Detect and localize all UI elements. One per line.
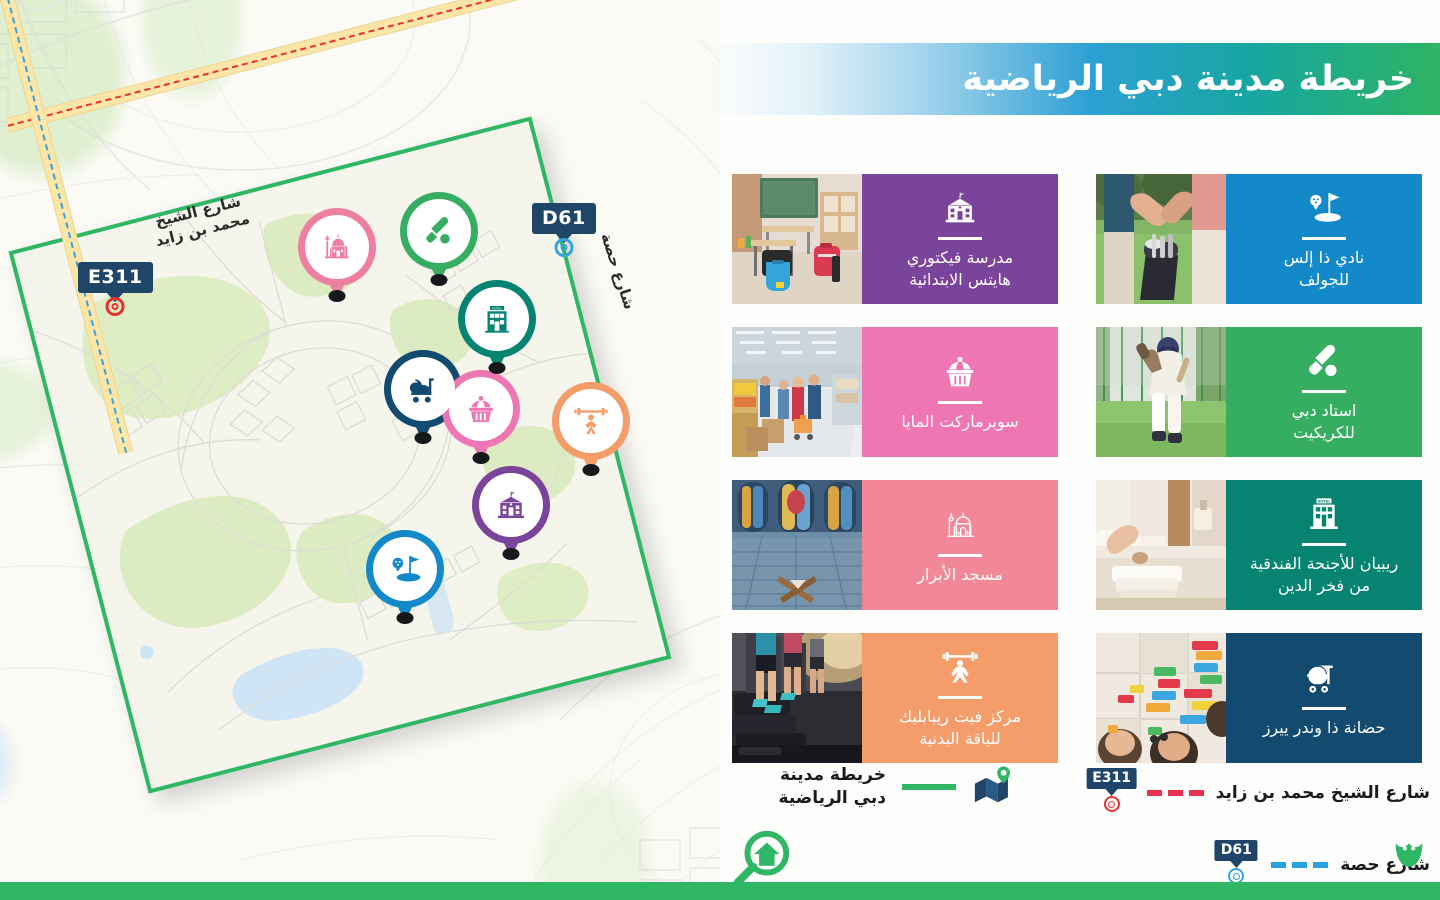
stroller-icon: [391, 357, 455, 421]
cricket-pin[interactable]: [400, 192, 478, 270]
card-label: مسجد الأبرار: [917, 564, 1003, 586]
svg-text:HOTEL: HOTEL: [1318, 500, 1332, 504]
card-divider: [1302, 707, 1346, 710]
leaf-mark-icon: [1392, 840, 1426, 874]
card-label: مركز فيت ريبابليك للياقة البدنية: [899, 706, 1021, 749]
card-divider: [938, 696, 982, 699]
legend-row-e311: شارع الشيخ محمد بن زايد E311: [1089, 768, 1430, 818]
right-panel: خريطة مدينة دبي الرياضية مدرسة فيكتوري ه…: [700, 0, 1440, 900]
card-divider: [1302, 237, 1346, 240]
basket-icon: [940, 351, 980, 393]
cricket-card[interactable]: استاد دبي للكريكيت: [1096, 327, 1422, 457]
legend-dash-e311: [1147, 790, 1204, 796]
hotel-card[interactable]: HOTEL ريبيان للأجنحة الفندقية من فخر الد…: [1096, 480, 1422, 610]
d61-node-marker: [554, 238, 573, 257]
legend-row-boundary: خريطة مدينة دبي الرياضية: [718, 762, 1018, 812]
legend-dash-d61: [1271, 862, 1328, 868]
weightlifter-icon: [559, 389, 623, 453]
page-title: خريطة مدينة دبي الرياضية: [962, 59, 1440, 99]
card-label: استاد دبي للكريكيت: [1292, 400, 1357, 443]
gym-treadmills-photo: [732, 633, 862, 763]
legend-chip-e311: E311: [1086, 768, 1137, 789]
mosque-interior-photo: [732, 480, 862, 610]
hotel-icon: HOTEL: [465, 287, 529, 351]
card-divider: [938, 237, 982, 240]
card-divider: [938, 554, 982, 557]
school-icon: [479, 473, 543, 537]
infographic-root: شارع الشيخ محمد بن زايد شارع حصة E311 D6…: [0, 0, 1440, 900]
boundary-line-swatch: [902, 784, 956, 790]
legend: شارع الشيخ محمد بن زايد E311 شارع حصة D6…: [718, 762, 1430, 872]
school-icon: [940, 187, 980, 229]
header-band: خريطة مدينة دبي الرياضية: [712, 43, 1440, 115]
classroom-photo: [732, 174, 862, 304]
card-divider: [1302, 543, 1346, 546]
legend-roads: شارع الشيخ محمد بن زايد E311 شارع حصة D6…: [1089, 768, 1430, 900]
map-pane[interactable]: شارع الشيخ محمد بن زايد شارع حصة E311 D6…: [0, 0, 720, 900]
e311-chip-label: E311: [78, 262, 153, 293]
golf-handshake-photo: [1096, 174, 1226, 304]
cricket-bat-icon: [407, 199, 471, 263]
hotel-pin[interactable]: HOTEL: [458, 280, 536, 358]
card-label: نادي ذا إلس للجولف: [1284, 247, 1364, 290]
road-badge-e311[interactable]: E311: [78, 262, 153, 293]
card-divider: [1302, 390, 1346, 393]
supermarket-card[interactable]: سوبرماركت المايا: [732, 327, 1058, 457]
folded-map-icon: [972, 762, 1018, 812]
card-label: سوبرماركت المايا: [901, 411, 1018, 433]
road-badge-d61[interactable]: D61: [532, 203, 596, 234]
legend-node-e311: [1104, 796, 1120, 812]
golf-card[interactable]: نادي ذا إلس للجولف: [1096, 174, 1422, 304]
d61-chip-label: D61: [532, 203, 596, 234]
legend-badge-e311: E311: [1089, 768, 1135, 818]
e311-node-marker: [106, 297, 125, 316]
school-pin[interactable]: [472, 466, 550, 544]
golf-icon: [373, 537, 437, 601]
legend-label-e311: شارع الشيخ محمد بن زايد: [1216, 783, 1430, 803]
school-card[interactable]: مدرسة فيكتوري هايتس الابتدائية: [732, 174, 1058, 304]
nursery-card[interactable]: حضانة ذا وندر ييرز: [1096, 633, 1422, 763]
basket-icon: [449, 377, 513, 441]
mosque-card[interactable]: مسجد الأبرار: [732, 480, 1058, 610]
svg-text:HOTEL: HOTEL: [492, 307, 502, 311]
hotel-icon: HOTEL: [1304, 493, 1344, 535]
weightlifter-icon: [940, 646, 980, 688]
poi-cards-grid: مدرسة فيكتوري هايتس الابتدائية: [732, 174, 1422, 763]
cricket-bat-icon: [1304, 340, 1344, 382]
card-label: ريبيان للأجنحة الفندقية من فخر الدين: [1250, 553, 1398, 596]
nursery-toys-photo: [1096, 633, 1226, 763]
legend-boundary-group: خريطة مدينة دبي الرياضية: [718, 762, 1018, 812]
mosque-pin[interactable]: [298, 208, 376, 286]
card-label: مدرسة فيكتوري هايتس الابتدائية: [907, 247, 1013, 290]
golf-icon: [1304, 187, 1344, 229]
mosque-icon: [305, 215, 369, 279]
stroller-icon: [1304, 657, 1344, 699]
legend-chip-d61: D61: [1215, 840, 1258, 861]
supermarket-photo: [732, 327, 862, 457]
legend-label-boundary: خريطة مدينة دبي الرياضية: [779, 764, 886, 810]
bottom-green-bar: [0, 882, 1440, 900]
cricket-photo: [1096, 327, 1226, 457]
hotel-room-photo: [1096, 480, 1226, 610]
mosque-icon: [940, 504, 980, 546]
gym-card[interactable]: مركز فيت ريبابليك للياقة البدنية: [732, 633, 1058, 763]
card-divider: [938, 401, 982, 404]
card-label: حضانة ذا وندر ييرز: [1263, 717, 1386, 739]
golf-pin[interactable]: [366, 530, 444, 608]
gym-pin[interactable]: [552, 382, 630, 460]
